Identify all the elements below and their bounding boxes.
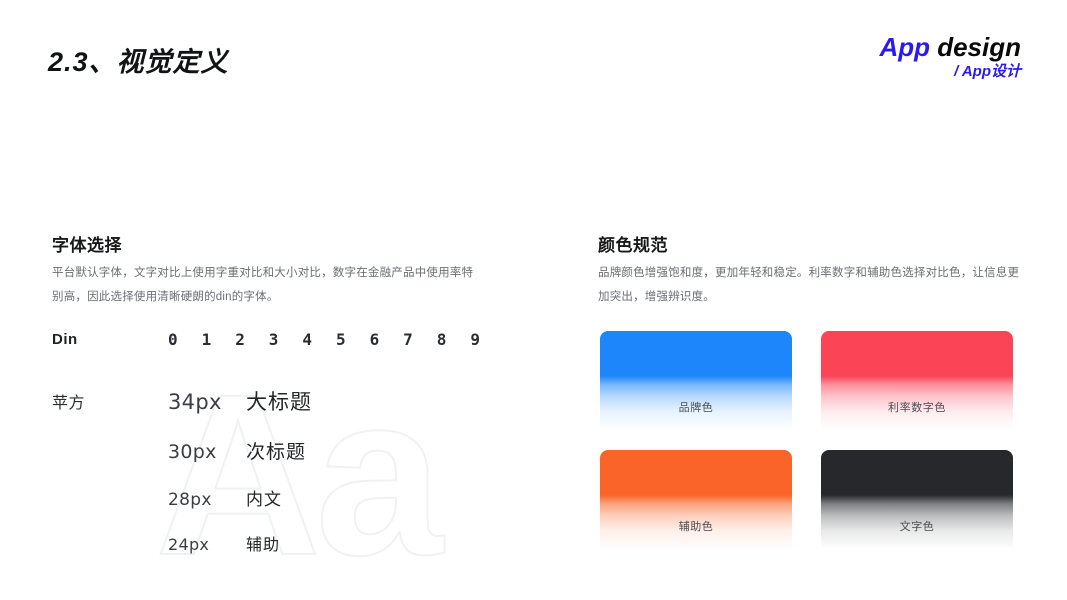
din-digit: 8 [437,330,447,349]
page-title: 2.3、视觉定义 [48,40,229,79]
din-label: Din [52,331,78,348]
color-swatch-label: 辅助色 [600,518,792,534]
din-digit-list: 0 1 2 3 4 5 6 7 8 9 [168,330,480,349]
color-swatch-solid [821,450,1013,495]
color-swatch: 辅助色 [600,450,792,557]
din-digit: 5 [336,330,346,349]
colors-section-title: 颜色规范 [598,231,668,256]
din-digit: 3 [269,330,279,349]
brand-title-app: App [879,32,930,62]
color-swatch: 文字色 [821,450,1013,557]
color-swatch-solid [821,331,1013,376]
font-size-row: 24px 辅助 [168,531,312,555]
din-digit: 4 [302,330,312,349]
din-digit: 0 [168,330,178,349]
brand-logo: App design / App设计 [879,33,1021,84]
slide-canvas: 2.3、视觉定义 App design / App设计 字体选择 平台默认字体，… [0,0,1067,600]
font-size-row: 28px 内文 [168,485,312,510]
fonts-section-description: 平台默认字体，文字对比上使用字重对比和大小对比，数字在金融产品中使用率特别高，因… [52,262,477,309]
color-swatch-grid: 品牌色 利率数字色 辅助色 文字色 [600,331,1014,557]
color-swatch-label: 文字色 [821,518,1013,534]
color-swatch: 利率数字色 [821,331,1013,438]
din-digit: 6 [370,330,380,349]
din-digit: 1 [202,330,212,349]
din-specimen-row: Din 0 1 2 3 4 5 6 7 8 9 [52,331,482,355]
color-swatch-label: 利率数字色 [821,399,1013,415]
font-size-name: 次标题 [246,437,306,464]
font-size-value: 34px [168,390,246,414]
font-size-name: 大标题 [246,386,312,416]
font-size-value: 30px [168,441,246,463]
pingfang-label: 苹方 [52,389,85,413]
font-size-row: 34px 大标题 [168,386,312,416]
din-digit: 9 [470,330,480,349]
color-swatch: 品牌色 [600,331,792,438]
font-size-row: 30px 次标题 [168,437,312,464]
font-size-scale-list: 34px 大标题 30px 次标题 28px 内文 24px 辅助 [168,386,312,555]
font-size-value: 24px [168,535,246,554]
color-swatch-label: 品牌色 [600,399,792,415]
colors-section-description: 品牌颜色增强饱和度，更加年轻和稳定。利率数字和辅助色选择对比色，让信息更加突出，… [598,262,1023,309]
din-digit: 7 [403,330,413,349]
brand-title: App design [879,33,1021,61]
font-size-name: 内文 [246,485,282,510]
color-swatch-solid [600,450,792,495]
brand-subtitle: / App设计 [879,61,1021,84]
fonts-section-title: 字体选择 [52,231,122,256]
color-swatch-solid [600,331,792,376]
din-digit: 2 [235,330,245,349]
font-size-name: 辅助 [246,531,280,555]
brand-title-design: design [930,32,1021,62]
font-size-value: 28px [168,490,246,510]
